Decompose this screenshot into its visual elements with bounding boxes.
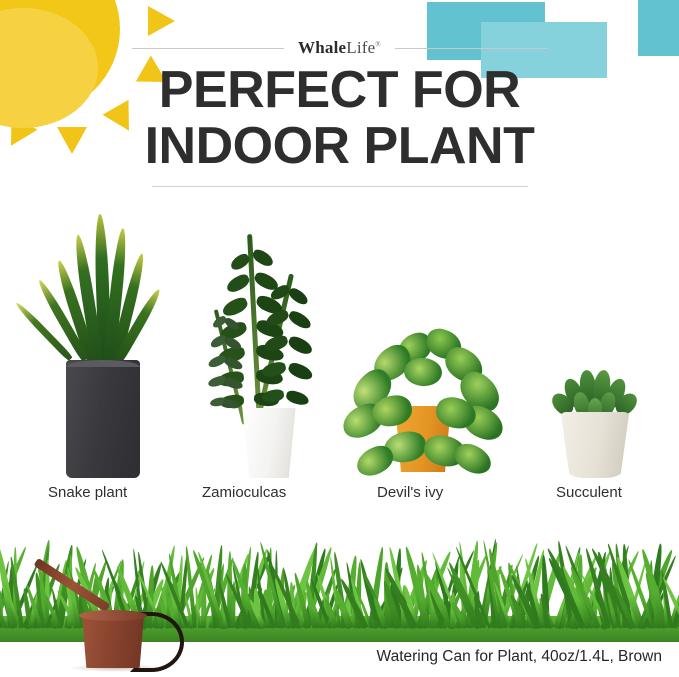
title-divider: [152, 186, 528, 187]
product-infographic: WhaleLife® PERFECT FOR INDOOR PLANT: [0, 0, 679, 677]
page-title-line1: PERFECT FOR: [159, 61, 520, 119]
plant-photo-snake-plant: [34, 210, 172, 478]
page-title-line2: INDOOR PLANT: [0, 118, 679, 174]
brand-name-light: Life: [346, 38, 375, 57]
plant-pot: [66, 360, 140, 478]
page-title: PERFECT FOR INDOOR PLANT: [0, 62, 679, 174]
brand-rule-left: [132, 48, 284, 49]
plant-pot: [240, 408, 298, 478]
registered-trademark-icon: ®: [375, 40, 381, 48]
plant-photo-succulent: [538, 332, 654, 478]
plant-caption-succulent: Succulent: [556, 484, 622, 501]
plant-caption-snake-plant: Snake plant: [48, 484, 127, 501]
plant-caption-zamioculcas: Zamioculcas: [202, 484, 286, 501]
brand-name-strong: Whale: [298, 38, 346, 57]
plant-photo-devils-ivy: [332, 298, 508, 478]
plant-photo-zamioculcas: [196, 210, 322, 478]
brand-header: WhaleLife®: [0, 38, 679, 58]
product-caption: Watering Can for Plant, 40oz/1.4L, Brown: [0, 648, 662, 666]
plant-pot: [560, 412, 630, 478]
brand-logo: WhaleLife®: [298, 38, 381, 58]
plant-gallery: [0, 198, 679, 478]
plant-captions: Snake plant Zamioculcas Devil's ivy Succ…: [0, 484, 679, 506]
brand-rule-right: [395, 48, 547, 49]
watering-can-rim: [79, 610, 147, 621]
plant-caption-devils-ivy: Devil's ivy: [377, 484, 443, 501]
